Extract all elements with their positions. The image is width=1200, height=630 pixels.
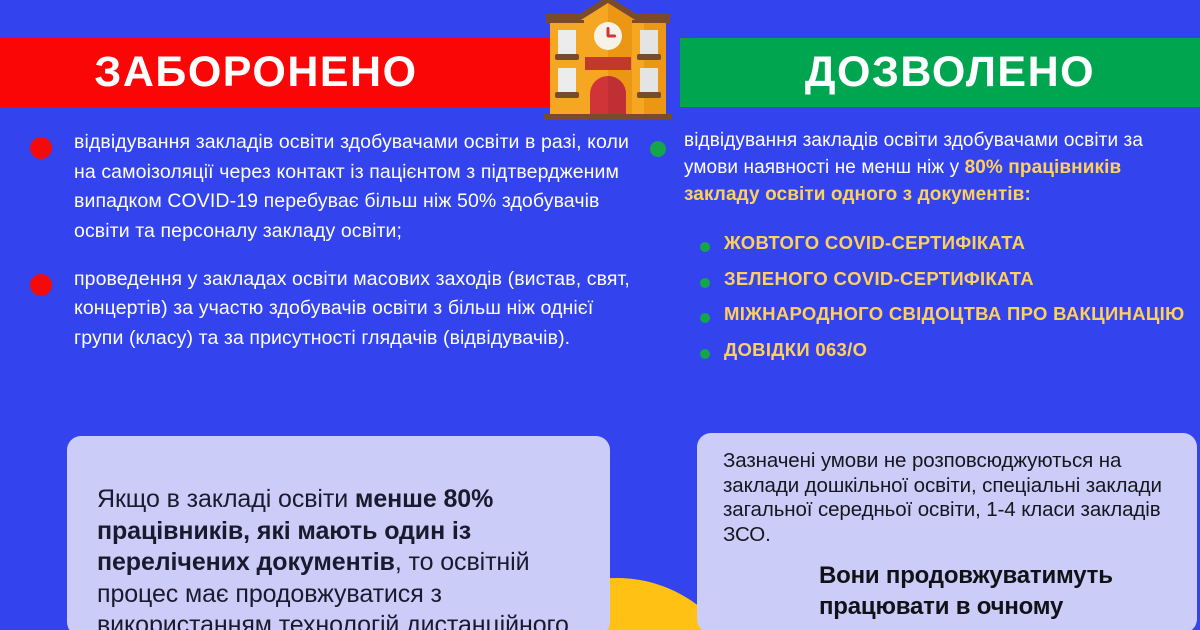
list-item: ДОВІДКИ 063/О <box>700 338 1200 363</box>
list-item: відвідування закладів освіти здобувачами… <box>30 128 630 247</box>
infographic-canvas: ЗАБОРОНЕНО ДОЗВОЛЕНО <box>0 0 1200 630</box>
green-bullet-icon <box>700 349 710 359</box>
document-item-3: МІЖНАРОДНОГО СВІДОЦТВА ПРО ВАКЦИНАЦІЮ <box>724 302 1185 327</box>
school-building-icon <box>536 0 680 120</box>
red-bullet-icon <box>30 274 52 296</box>
red-bullet-icon <box>30 137 52 159</box>
banner-allowed-title: ДОЗВОЛЕНО <box>805 51 1095 94</box>
note-left-part1: Якщо в закладі освіти <box>97 485 355 513</box>
note-card-left: Якщо в закладі освіти менше 80% працівни… <box>67 436 610 630</box>
note-card-right-text: Зазначені умови не розповсюджуються на з… <box>723 449 1183 547</box>
banner-allowed: ДОЗВОЛЕНО <box>680 38 1200 107</box>
banner-forbidden: ЗАБОРОНЕНО <box>0 38 560 107</box>
green-bullet-icon <box>700 278 710 288</box>
green-bullet-icon <box>700 242 710 252</box>
green-bullet-icon <box>650 141 666 157</box>
green-bullet-icon <box>700 313 710 323</box>
list-item: відвідування закладів освіти здобувачами… <box>650 128 1200 209</box>
document-item-1: ЖОВТОГО COVID-СЕРТИФІКАТА <box>724 231 1025 256</box>
forbidden-column: відвідування закладів освіти здобувачами… <box>30 128 630 371</box>
forbidden-item-1-text: відвідування закладів освіти здобувачами… <box>74 128 630 247</box>
document-item-2: ЗЕЛЕНОГО COVID-СЕРТИФІКАТА <box>724 267 1034 292</box>
note-card-right: Зазначені умови не розповсюджуються на з… <box>697 433 1197 630</box>
note-card-right-bold-text: Вони продовжуватимуть працювати в очному <box>723 561 1183 622</box>
list-item: ЗЕЛЕНОГО COVID-СЕРТИФІКАТА <box>700 267 1200 292</box>
allowed-intro-text: відвідування закладів освіти здобувачами… <box>684 128 1200 209</box>
allowed-documents-list: ЖОВТОГО COVID-СЕРТИФІКАТА ЗЕЛЕНОГО COVID… <box>700 231 1200 362</box>
list-item: МІЖНАРОДНОГО СВІДОЦТВА ПРО ВАКЦИНАЦІЮ <box>700 302 1200 327</box>
forbidden-item-2-text: проведення у закладах освіти масових зах… <box>74 265 630 354</box>
list-item: проведення у закладах освіти масових зах… <box>30 265 630 354</box>
list-item: ЖОВТОГО COVID-СЕРТИФІКАТА <box>700 231 1200 256</box>
note-card-left-text: Якщо в закладі освіти менше 80% працівни… <box>97 484 572 630</box>
allowed-column: відвідування закладів освіти здобувачами… <box>650 128 1200 373</box>
banner-forbidden-title: ЗАБОРОНЕНО <box>94 51 417 94</box>
document-item-4: ДОВІДКИ 063/О <box>724 338 867 363</box>
